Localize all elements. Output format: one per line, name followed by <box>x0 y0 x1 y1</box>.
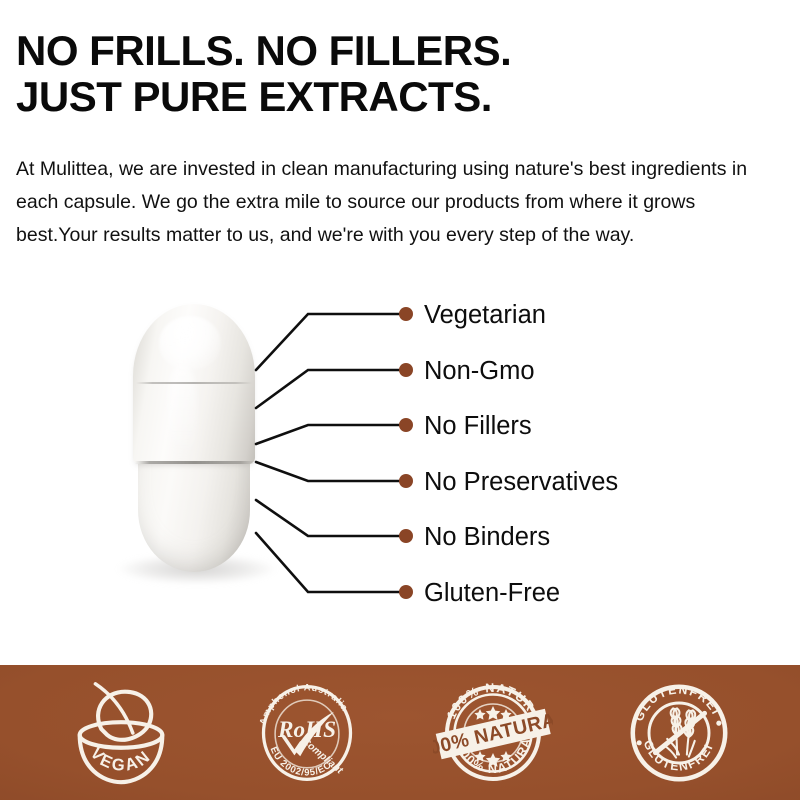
feature-dot-6 <box>399 585 413 599</box>
glutenfree-badge: GLUTENFREI GLUTENFREI <box>619 673 739 793</box>
feature-label-vegetarian: Vegetarian <box>424 302 546 328</box>
natural-stamp-icon: 100% NATURAL 100% NATURAL <box>433 673 553 793</box>
leader-line-6 <box>256 533 404 592</box>
feature-dot-5 <box>399 529 413 543</box>
feature-label-non-gmo: Non-Gmo <box>424 358 535 384</box>
leader-line-1 <box>256 314 404 370</box>
promo-infographic: NO FRILLS. NO FILLERS. JUST PURE EXTRACT… <box>0 0 800 800</box>
feature-dot-3 <box>399 418 413 432</box>
feature-label-no-fillers: No Fillers <box>424 413 532 439</box>
feature-label-no-preservatives: No Preservatives <box>424 469 618 495</box>
leader-line-2 <box>256 370 404 408</box>
feature-label-no-binders: No Binders <box>424 524 550 550</box>
natural-badge: 100% NATURAL 100% NATURAL <box>433 673 553 793</box>
glutenfree-stamp-icon: GLUTENFREI GLUTENFREI <box>620 674 738 792</box>
leader-line-5 <box>256 500 404 536</box>
feature-dot-1 <box>399 307 413 321</box>
rohs-badge: RoHS Amphenol Australia EU 2002/95/EC Co… <box>247 673 367 793</box>
certification-bar: VEGAN RoHS Am <box>0 665 800 800</box>
feature-dot-4 <box>399 474 413 488</box>
vegan-badge: VEGAN <box>61 673 181 793</box>
feature-label-gluten-free: Gluten-Free <box>424 580 560 606</box>
bowl-leaf-icon: VEGAN <box>62 674 180 792</box>
leader-lines-group <box>0 282 800 665</box>
capsule-feature-diagram: White two-piece vegetarian capsule <box>0 282 800 665</box>
leader-line-4 <box>256 462 404 481</box>
feature-dot-2 <box>399 363 413 377</box>
rohs-seal-icon: RoHS Amphenol Australia EU 2002/95/EC Co… <box>249 675 365 791</box>
leader-line-3 <box>256 425 404 444</box>
page-title: NO FRILLS. NO FILLERS. JUST PURE EXTRACT… <box>16 28 786 120</box>
body-paragraph: At Mulittea, we are invested in clean ma… <box>16 153 778 252</box>
